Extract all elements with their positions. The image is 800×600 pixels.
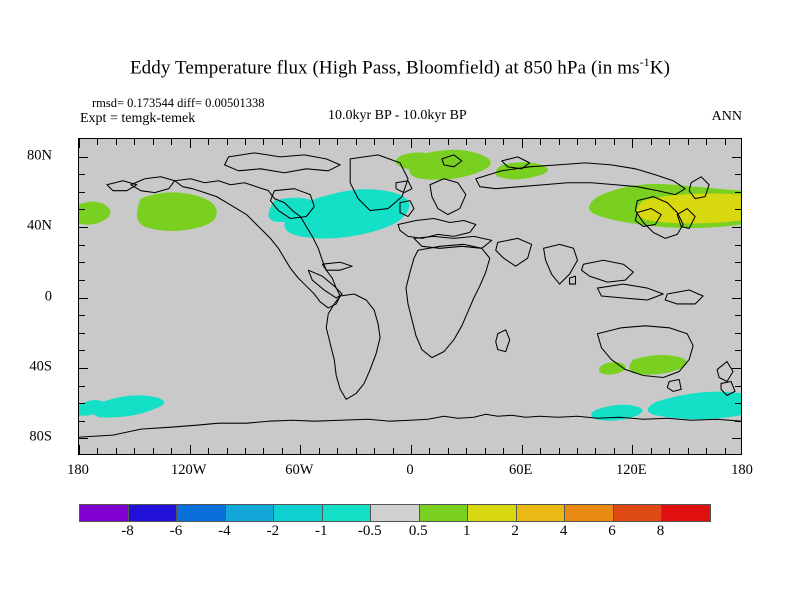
- x-tick-top-130w: [171, 139, 172, 145]
- y-tick-right-0: [732, 298, 741, 299]
- anomaly-north-atlantic-negative: [284, 189, 409, 238]
- x-tick-top-170w: [97, 139, 98, 145]
- x-tick-10w: [393, 448, 394, 454]
- y-tick-70n: [79, 174, 85, 175]
- colorbar-segment-0[interactable]: [80, 505, 129, 521]
- y-tick-right-50n: [735, 209, 741, 210]
- figure-canvas: Eddy Temperature flux (High Pass, Bloomf…: [0, 0, 800, 600]
- y-tick-right-40n: [732, 227, 741, 228]
- y-tick-right-50s: [735, 386, 741, 387]
- x-axis-label-2: 60W: [285, 462, 313, 479]
- y-tick-60n: [79, 192, 85, 193]
- x-tick-70e: [540, 448, 541, 454]
- colorbar-tick-10: 6: [608, 523, 616, 540]
- x-tick-top-110e: [614, 139, 615, 145]
- y-tick-10n: [79, 280, 85, 281]
- x-tick-top-80w: [263, 139, 264, 145]
- y-tick-right-30n: [735, 245, 741, 246]
- x-tick-top-120w: [190, 139, 191, 148]
- x-tick-top-110w: [208, 139, 209, 145]
- colorbar-segment-8[interactable]: [468, 505, 517, 521]
- y-tick-20n: [79, 262, 85, 263]
- y-tick-50s: [79, 386, 85, 387]
- coastline-indonesia: [597, 284, 663, 300]
- x-tick-0: [411, 445, 412, 454]
- x-tick-150w: [134, 448, 135, 454]
- y-tick-50n: [79, 209, 85, 210]
- x-tick-top-20w: [374, 139, 375, 145]
- coastline-southeast-asia: [581, 260, 633, 282]
- x-tick-10e: [429, 448, 430, 454]
- coastline-new-guinea: [665, 290, 703, 304]
- x-axis-label-4: 60E: [509, 462, 532, 479]
- x-tick-130e: [651, 448, 652, 454]
- colorbar-segment-3[interactable]: [226, 505, 275, 521]
- y-tick-10s: [79, 315, 85, 316]
- x-tick-top-70w: [282, 139, 283, 145]
- coastline-india: [544, 244, 578, 284]
- page-title: Eddy Temperature flux (High Pass, Bloomf…: [0, 55, 800, 79]
- colorbar-segment-9[interactable]: [517, 505, 566, 521]
- x-tick-top-20e: [448, 139, 449, 145]
- x-tick-50w: [319, 448, 320, 454]
- y-tick-right-70s: [735, 421, 741, 422]
- y-tick-20s: [79, 333, 85, 334]
- x-tick-20e: [448, 448, 449, 454]
- x-tick-30e: [466, 448, 467, 454]
- colorbar-tick-7: 1: [463, 523, 471, 540]
- coastline-canadian-archipelago: [225, 153, 341, 173]
- coastline-alaska: [131, 177, 175, 193]
- x-tick-top-50w: [319, 139, 320, 145]
- y-tick-80n: [79, 157, 88, 158]
- y-tick-right-10s: [735, 315, 741, 316]
- colorbar-tick-4: -1: [315, 523, 328, 540]
- colorbar-tick-5: -0.5: [358, 523, 382, 540]
- y-axis-label-0: 80N: [27, 147, 52, 164]
- x-axis-label-3: 0: [406, 462, 413, 479]
- x-tick-20w: [374, 448, 375, 454]
- x-tick-180w: [79, 445, 80, 454]
- x-tick-140w: [153, 448, 154, 454]
- coastline-new-zealand: [717, 362, 733, 382]
- x-tick-top-40w: [337, 139, 338, 145]
- x-tick-top-160e: [706, 139, 707, 145]
- x-tick-top-150e: [688, 139, 689, 145]
- colorbar-tick-3: -2: [267, 523, 280, 540]
- x-tick-90w: [245, 448, 246, 454]
- x-tick-110e: [614, 448, 615, 454]
- anomaly-south-australia-west-positive: [599, 362, 626, 375]
- coastline-europe: [398, 218, 476, 238]
- y-tick-60s: [79, 403, 85, 404]
- x-tick-170w: [97, 448, 98, 454]
- x-tick-top-80e: [559, 139, 560, 145]
- x-tick-120e: [632, 445, 633, 454]
- x-tick-top-90w: [245, 139, 246, 145]
- x-tick-top-140w: [153, 139, 154, 145]
- colorbar-segment-6[interactable]: [371, 505, 420, 521]
- x-axis-label-5: 120E: [616, 462, 647, 479]
- x-axis-label-1: 120W: [171, 462, 206, 479]
- x-axis-label-0: 180: [67, 462, 89, 479]
- x-tick-top-140e: [669, 139, 670, 145]
- title-tail-text: K): [650, 57, 670, 78]
- y-tick-right-30s: [735, 350, 741, 351]
- coastline-africa: [406, 244, 490, 357]
- x-tick-top-30w: [356, 139, 357, 145]
- x-tick-top-180w: [79, 139, 80, 148]
- x-tick-top-160w: [116, 139, 117, 145]
- x-tick-160w: [116, 448, 117, 454]
- colorbar-segment-7[interactable]: [420, 505, 469, 521]
- season-annotation: ANN: [712, 109, 742, 125]
- y-tick-right-40s: [732, 368, 741, 369]
- x-tick-100w: [227, 448, 228, 454]
- x-tick-top-60e: [522, 139, 523, 148]
- x-tick-60e: [522, 445, 523, 454]
- x-tick-80w: [263, 448, 264, 454]
- colorbar-segment-5[interactable]: [323, 505, 372, 521]
- y-tick-0: [79, 298, 88, 299]
- x-axis-label-6: 180: [731, 462, 753, 479]
- x-tick-top-90e: [577, 139, 578, 145]
- x-tick-40w: [337, 448, 338, 454]
- colorbar-tick-8: 2: [511, 523, 519, 540]
- colorbar-segment-1[interactable]: [129, 505, 178, 521]
- colorbar-segment-4[interactable]: [274, 505, 323, 521]
- map-plot-area: [78, 138, 742, 455]
- title-exponent: -1: [640, 55, 650, 69]
- coastline-south-america: [326, 294, 380, 399]
- x-tick-40e: [485, 448, 486, 454]
- coastline-tasmania: [667, 379, 681, 391]
- anomaly-north-pacific-alaska-positive: [137, 192, 217, 231]
- x-tick-30w: [356, 448, 357, 454]
- x-tick-140e: [669, 448, 670, 454]
- x-tick-110w: [208, 448, 209, 454]
- x-tick-top-120e: [632, 139, 633, 148]
- colorbar-tick-0: -8: [121, 523, 134, 540]
- y-tick-40s: [79, 368, 88, 369]
- colorbar-tick-2: -4: [218, 523, 231, 540]
- coastline-sri-lanka: [570, 276, 576, 284]
- x-tick-170e: [725, 448, 726, 454]
- y-tick-70s: [79, 421, 85, 422]
- x-tick-120w: [190, 445, 191, 454]
- x-tick-50e: [503, 448, 504, 454]
- y-tick-30s: [79, 350, 85, 351]
- experiment-annotation: Expt = temgk-temek: [80, 111, 195, 127]
- y-axis-label-1: 40N: [27, 218, 52, 235]
- x-tick-top-50e: [503, 139, 504, 145]
- y-axis-label-2: 0: [45, 288, 52, 305]
- colorbar-tick-11: 8: [657, 523, 665, 540]
- x-tick-top-70e: [540, 139, 541, 145]
- coastline-scandinavia: [430, 179, 466, 215]
- colorbar-tick-9: 4: [560, 523, 568, 540]
- x-tick-60w: [300, 445, 301, 454]
- colorbar-tick-1: -6: [170, 523, 183, 540]
- colorbar-segment-2[interactable]: [177, 505, 226, 521]
- rmsd-diff-annotation: rmsd= 0.173544 diff= 0.00501338: [92, 96, 265, 111]
- colorbar-segment-11[interactable]: [614, 505, 663, 521]
- anomaly-kamchatka-west-positive: [79, 202, 110, 225]
- y-tick-right-60s: [735, 403, 741, 404]
- x-tick-130w: [171, 448, 172, 454]
- x-tick-70w: [282, 448, 283, 454]
- y-tick-40n: [79, 227, 88, 228]
- x-tick-90e: [577, 448, 578, 454]
- y-tick-30n: [79, 245, 85, 246]
- x-tick-top-0: [411, 139, 412, 148]
- y-tick-right-20s: [735, 333, 741, 334]
- x-tick-80e: [559, 448, 560, 454]
- x-tick-top-10w: [393, 139, 394, 145]
- x-tick-top-30e: [466, 139, 467, 145]
- x-tick-top-150w: [134, 139, 135, 145]
- x-tick-150e: [688, 448, 689, 454]
- colorbar-segment-12[interactable]: [662, 505, 710, 521]
- y-tick-right-60n: [735, 192, 741, 193]
- x-tick-100e: [595, 448, 596, 454]
- period-annotation: 10.0kyr BP - 10.0kyr BP: [328, 108, 467, 124]
- x-tick-top-40e: [485, 139, 486, 145]
- colorbar-segment-10[interactable]: [565, 505, 614, 521]
- x-tick-top-130e: [651, 139, 652, 145]
- world-map-svg: [79, 139, 741, 454]
- coastline-madagascar: [496, 330, 510, 352]
- coastline-caribbean: [322, 262, 352, 270]
- y-axis-label-4: 80S: [29, 429, 52, 446]
- coastline-mediterranean: [414, 236, 492, 248]
- y-tick-right-20n: [735, 262, 741, 263]
- x-tick-160e: [706, 448, 707, 454]
- coastline-arabia: [496, 238, 532, 266]
- x-tick-top-60w: [300, 139, 301, 148]
- anomaly-shading-layer: [79, 150, 741, 421]
- x-tick-top-170e: [725, 139, 726, 145]
- y-tick-right-70n: [735, 174, 741, 175]
- coastline-antarctica: [79, 414, 741, 437]
- y-tick-right-80s: [732, 438, 741, 439]
- y-axis-label-3: 40S: [29, 358, 52, 375]
- colorbar[interactable]: [79, 504, 711, 522]
- y-tick-right-10n: [735, 280, 741, 281]
- y-tick-80s: [79, 438, 88, 439]
- x-tick-top-100w: [227, 139, 228, 145]
- y-tick-right-80n: [732, 157, 741, 158]
- colorbar-tick-6: 0.5: [409, 523, 428, 540]
- x-tick-top-100e: [595, 139, 596, 145]
- title-main-text: Eddy Temperature flux (High Pass, Bloomf…: [130, 57, 640, 78]
- x-tick-top-10e: [429, 139, 430, 145]
